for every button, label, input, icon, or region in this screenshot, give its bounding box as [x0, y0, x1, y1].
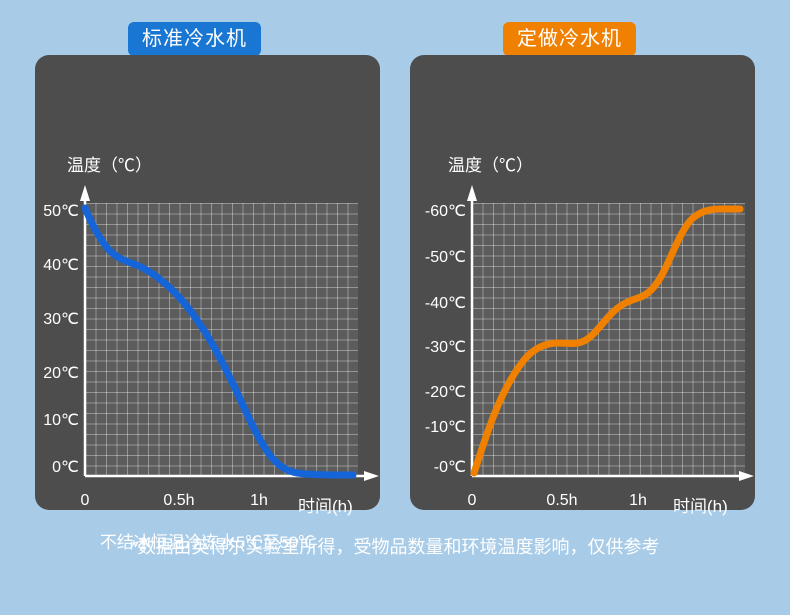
right-plot-grid: [472, 203, 745, 476]
left-y-tick-0: 50℃: [35, 201, 79, 221]
right-y-tick-1: -50℃: [410, 247, 466, 267]
infographic-root: 标准冷水机 温度（℃） 50℃ 40℃ 30℃ 20℃ 10℃ 0℃ 0 0.5…: [0, 0, 790, 615]
right-y-tick-3: -30℃: [410, 337, 466, 357]
right-panel-title-badge: 定做冷水机: [503, 22, 636, 56]
right-y-axis-label: 温度（℃）: [448, 151, 533, 176]
left-chart-panel: 温度（℃） 50℃ 40℃ 30℃ 20℃ 10℃ 0℃ 0 0.5h 1h 时…: [35, 55, 380, 510]
right-x-tick-1: 0.5h: [534, 492, 590, 510]
right-chart-panel: 温度（℃） -60℃ -50℃ -40℃ -30℃ -20℃ -10℃ -0℃ …: [410, 55, 755, 510]
left-plot-grid: [85, 203, 358, 476]
right-y-tick-4: -20℃: [410, 382, 466, 402]
left-y-tick-4: 10℃: [35, 410, 79, 430]
left-x-tick-0: 0: [71, 492, 99, 510]
right-y-tick-6: -0℃: [410, 457, 466, 477]
right-y-tick-0: -60℃: [410, 201, 466, 221]
right-x-tick-0: 0: [458, 492, 486, 510]
left-y-tick-3: 20℃: [35, 363, 79, 383]
left-y-axis-label: 温度（℃）: [67, 151, 152, 176]
left-x-axis-label: 时间(h): [298, 492, 353, 517]
left-y-tick-1: 40℃: [35, 255, 79, 275]
left-y-tick-2: 30℃: [35, 309, 79, 329]
right-y-tick-2: -40℃: [410, 293, 466, 313]
right-x-axis-label: 时间(h): [673, 492, 728, 517]
left-x-tick-2: 1h: [239, 492, 279, 510]
right-x-tick-2: 1h: [618, 492, 658, 510]
footnote-text: *数据由英得尔实验室所得，受物品数量和环境温度影响，仅供参考: [0, 533, 790, 559]
left-x-tick-1: 0.5h: [151, 492, 207, 510]
left-y-tick-5: 0℃: [35, 457, 79, 477]
right-y-tick-5: -10℃: [410, 417, 466, 437]
left-panel-title-badge: 标准冷水机: [128, 22, 261, 56]
